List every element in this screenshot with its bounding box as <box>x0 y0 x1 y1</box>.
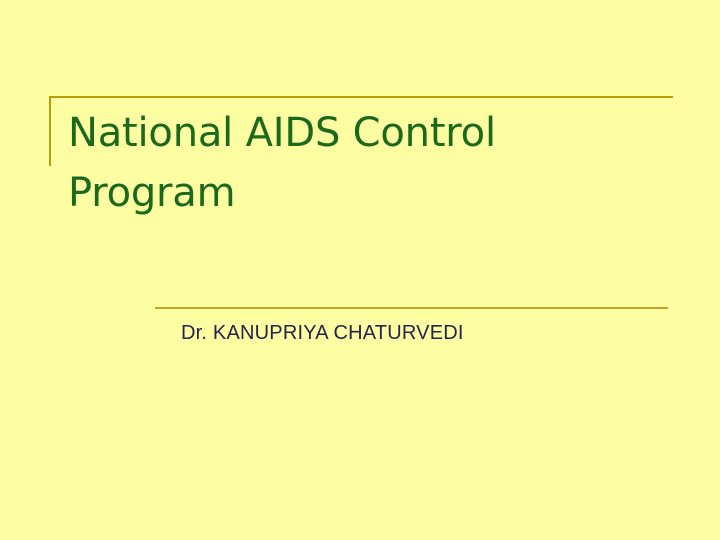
slide-title: National AIDS Control Program <box>68 103 668 223</box>
presentation-slide: National AIDS Control Program Dr. KANUPR… <box>0 0 720 540</box>
subtitle-divider <box>155 307 668 309</box>
slide-subtitle-author: Dr. KANUPRIYA CHATURVEDI <box>181 320 681 346</box>
